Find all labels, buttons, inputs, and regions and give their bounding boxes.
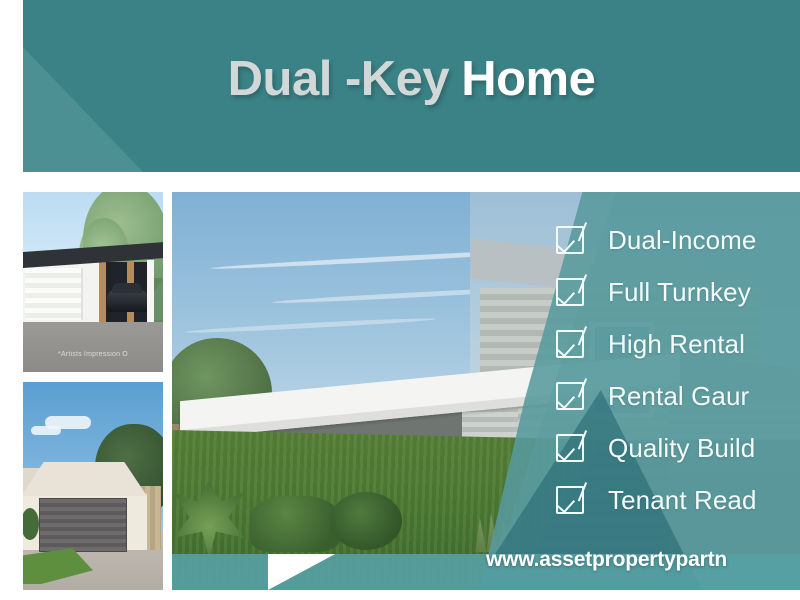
- header-banner: Dual -Key Home: [23, 0, 800, 172]
- car-shape: [107, 290, 149, 312]
- feature-label: Tenant Read: [608, 485, 757, 516]
- checkbox-checked-icon: [556, 226, 584, 254]
- checkbox-checked-icon: [556, 382, 584, 410]
- round-shrub: [330, 492, 402, 550]
- list-item[interactable]: Quality Build: [556, 422, 800, 474]
- cloud-shape-secondary: [31, 426, 61, 435]
- corner-post: [147, 260, 154, 322]
- checkbox-checked-icon: [556, 330, 584, 358]
- title-part-two: Home: [461, 51, 595, 107]
- list-item[interactable]: Rental Gaur: [556, 370, 800, 422]
- carport-beam-left: [99, 262, 106, 322]
- checkbox-checked-icon: [556, 278, 584, 306]
- feature-label: Dual-Income: [608, 225, 757, 256]
- list-item[interactable]: Full Turnkey: [556, 266, 800, 318]
- list-item[interactable]: Tenant Read: [556, 474, 800, 526]
- checkbox-checked-icon: [556, 434, 584, 462]
- list-item[interactable]: Dual-Income: [556, 214, 800, 266]
- feature-list: Dual-Income Full Turnkey High Rental Ren…: [556, 214, 800, 526]
- title-part-one: Dual -Key: [228, 51, 450, 107]
- feature-label: High Rental: [608, 329, 745, 360]
- feature-label: Rental Gaur: [608, 381, 749, 412]
- feature-label: Full Turnkey: [608, 277, 751, 308]
- dual-key-home-flyer: Dual -Key Home *Artists Impression O: [0, 0, 800, 600]
- garage-door: [39, 498, 127, 552]
- artists-impression-caption: *Artists Impression O: [23, 351, 163, 358]
- garden-bushes: [250, 496, 340, 552]
- thumbnail-double-garage-house[interactable]: [23, 382, 163, 590]
- driveway-shape: [23, 320, 163, 372]
- list-item[interactable]: High Rental: [556, 318, 800, 370]
- page-title: Dual -Key Home: [23, 0, 800, 172]
- thumbnail-carport-house[interactable]: *Artists Impression O: [23, 192, 163, 372]
- checkbox-checked-icon: [556, 486, 584, 514]
- garage-door: [25, 268, 83, 320]
- feature-label: Quality Build: [608, 433, 755, 464]
- website-url[interactable]: www.assetpropertypartn: [486, 548, 727, 572]
